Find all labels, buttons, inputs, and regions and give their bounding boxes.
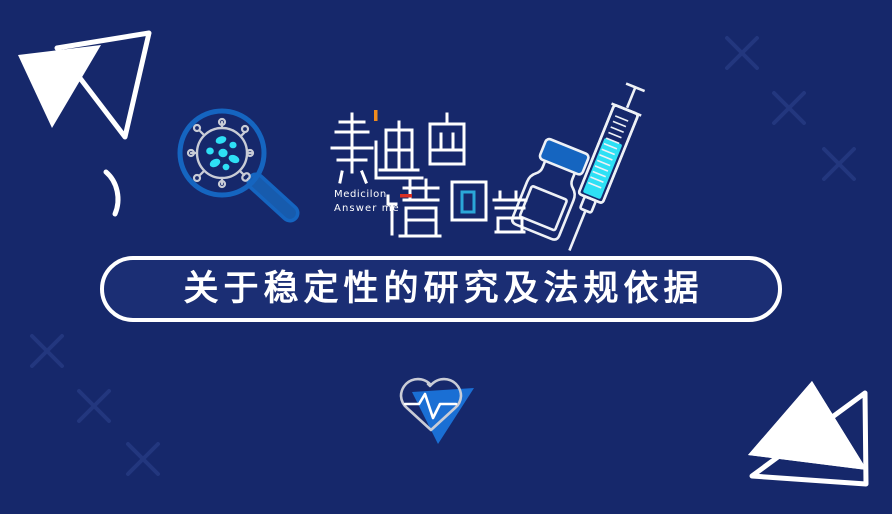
arc-icon bbox=[106, 172, 118, 214]
logo-accent-orange bbox=[374, 110, 378, 121]
logo-latin-line2: Answer me bbox=[334, 202, 400, 216]
syringe-glyph bbox=[555, 81, 651, 256]
logo-accent-square bbox=[462, 192, 474, 212]
triangle-pair-top-left bbox=[18, 33, 149, 137]
heart-triangle-overlay bbox=[412, 388, 474, 444]
magnifier-lens bbox=[180, 111, 264, 195]
logo-latin-text: Medicilon Answer me bbox=[334, 188, 400, 216]
virus-glyph bbox=[188, 119, 253, 187]
x-mark bbox=[824, 149, 854, 179]
magnifier-handle bbox=[256, 182, 290, 213]
x-mark bbox=[32, 336, 62, 366]
banner: Medicilon Answer me 关于稳定性的研究及法规依据 bbox=[0, 0, 892, 514]
logo-accent-red bbox=[400, 194, 412, 198]
heart-outline bbox=[401, 379, 461, 430]
x-mark bbox=[128, 444, 158, 474]
x-mark-group-left bbox=[32, 336, 158, 474]
x-mark bbox=[79, 391, 109, 421]
pulse-line bbox=[405, 394, 456, 418]
logo-latin-line1: Medicilon bbox=[334, 188, 400, 202]
logo-mark bbox=[330, 108, 530, 238]
page-title: 关于稳定性的研究及法规依据 bbox=[178, 272, 703, 307]
x-mark bbox=[774, 93, 804, 123]
x-mark-group-right bbox=[727, 38, 854, 179]
x-mark bbox=[727, 38, 757, 68]
logo-block: Medicilon Answer me bbox=[330, 108, 530, 238]
virus-spots bbox=[206, 135, 240, 170]
title-pill: 关于稳定性的研究及法规依据 bbox=[100, 256, 782, 322]
triangle-pair-bottom-right bbox=[748, 381, 867, 484]
